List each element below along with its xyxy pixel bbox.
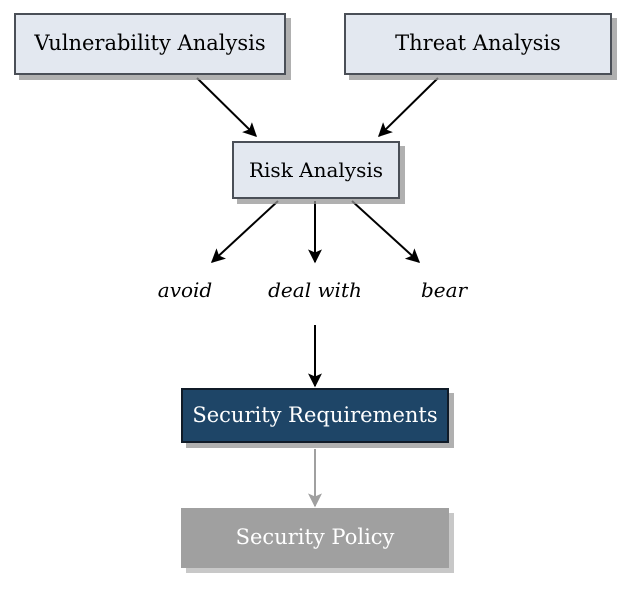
- edge-threat-to-risk: [379, 78, 438, 136]
- edge-risk-to-bear: [352, 201, 419, 262]
- node-vulnerability-analysis[interactable]: Vulnerability Analysis: [14, 13, 286, 75]
- node-threat-analysis[interactable]: Threat Analysis: [344, 13, 612, 75]
- edge-vulnerability-to-risk: [197, 78, 256, 136]
- option-label-avoid: avoid: [155, 278, 215, 302]
- option-text-avoid: avoid: [158, 278, 212, 302]
- option-label-bear: bear: [418, 278, 470, 302]
- edge-risk-to-avoid: [212, 201, 278, 262]
- node-security-requirements[interactable]: Security Requirements: [181, 388, 449, 443]
- option-text-deal-with: deal with: [268, 278, 362, 302]
- node-security-policy[interactable]: Security Policy: [181, 508, 449, 568]
- diagram-canvas: Vulnerability Analysis Threat Analysis R…: [0, 0, 638, 595]
- option-label-deal-with: deal with: [266, 278, 364, 302]
- node-label-vulnerability-analysis: Vulnerability Analysis: [34, 32, 265, 55]
- node-label-security-requirements: Security Requirements: [192, 404, 437, 427]
- node-label-security-policy: Security Policy: [236, 526, 395, 549]
- node-risk-analysis[interactable]: Risk Analysis: [232, 141, 400, 199]
- node-label-threat-analysis: Threat Analysis: [395, 32, 561, 55]
- node-label-risk-analysis: Risk Analysis: [249, 159, 383, 181]
- option-text-bear: bear: [421, 278, 467, 302]
